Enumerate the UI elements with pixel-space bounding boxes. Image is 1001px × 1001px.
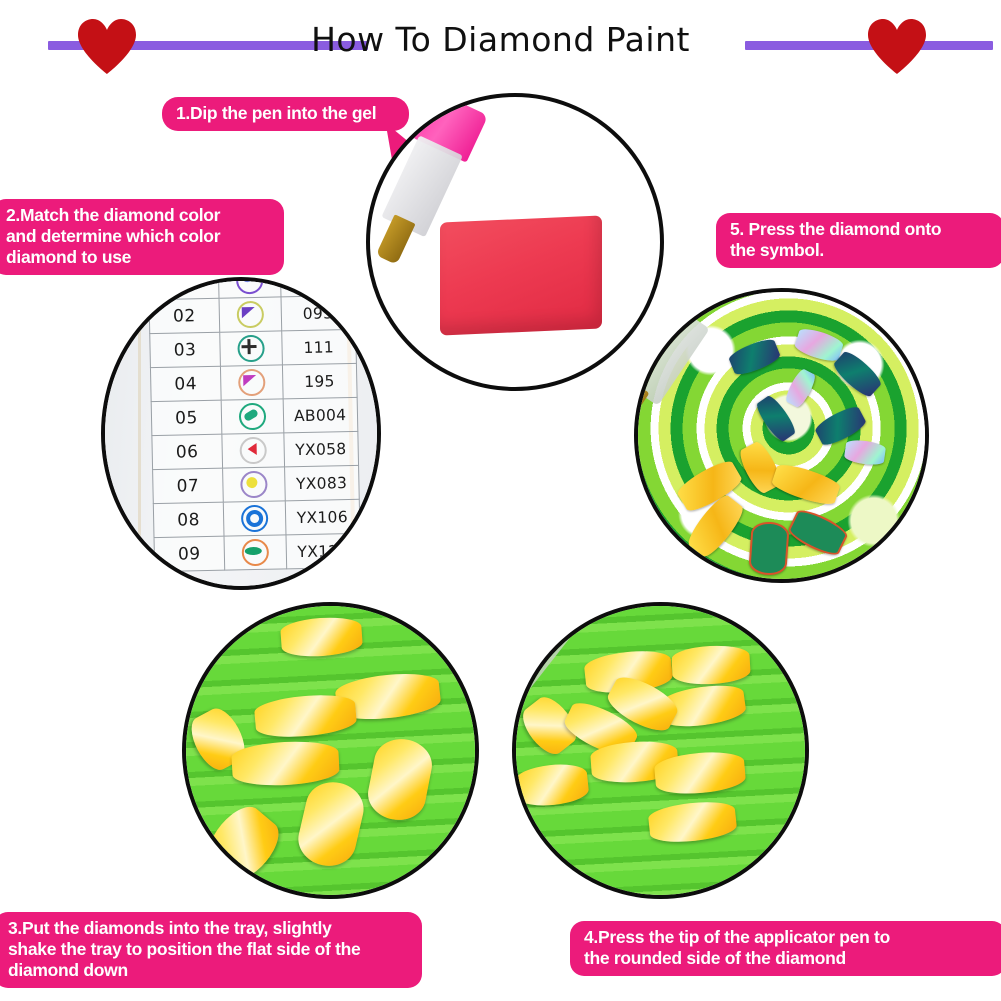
chart-row-number: 03: [150, 332, 221, 367]
chart-row-code: 093: [281, 295, 356, 331]
dot-icon-glyph: [246, 477, 257, 488]
plus-icon-glyph: [242, 345, 257, 348]
chart-row: 02093: [149, 295, 355, 333]
circle-double-dot-icon: [236, 277, 264, 294]
symbol-chart-table: 02002093031110419505AB00406YX05807YX0830…: [148, 277, 361, 572]
chart-row: 05AB004: [151, 397, 357, 435]
how-to-diamond-paint-infographic: How To Diamond Paint 1.Dip the pen into …: [0, 0, 1001, 1001]
arrow-left-icon-glyph: [248, 443, 257, 455]
step-3-label: 3.Put the diamonds into the tray, slight…: [0, 912, 422, 988]
chart-row: 03111: [150, 329, 356, 367]
chart-row: 09YX125: [154, 533, 360, 571]
plus-icon: [220, 331, 282, 366]
dot-icon: [240, 470, 268, 498]
chart-row: 08YX106: [154, 499, 360, 537]
placing-diamond-on-symbol-photo: [638, 292, 925, 579]
ring-icon-glyph: [246, 510, 263, 527]
triangle-icon: [238, 368, 266, 396]
pen-picking-up-diamond-photo: [516, 606, 805, 895]
step-3-line-1: 3.Put the diamonds into the tray, slight…: [8, 918, 408, 939]
pen-dipping-into-gel-photo: [370, 97, 660, 387]
triangle-icon-glyph: [242, 307, 255, 318]
arrow-left-icon: [222, 433, 284, 468]
step-4-photo: [512, 602, 809, 899]
step-5-line-1: 5. Press the diamond onto: [730, 219, 990, 240]
chart-row-code: YX058: [284, 431, 359, 467]
chart-row-code: 195: [282, 363, 357, 399]
step-2-label: 2.Match the diamond color and determine …: [0, 199, 284, 275]
step-5-line-2: the symbol.: [730, 240, 990, 261]
triangle-icon: [221, 365, 283, 400]
triangle-icon: [219, 297, 281, 332]
triangle-icon: [237, 300, 265, 328]
page-title: How To Diamond Paint: [0, 20, 1001, 59]
step-5-label: 5. Press the diamond onto the symbol.: [716, 213, 1001, 268]
chart-row: 04195: [151, 363, 357, 401]
ring-icon: [241, 504, 269, 532]
symbol-outline: [748, 520, 790, 575]
chart-row-code: YX125: [286, 533, 361, 569]
chart-row-number: 08: [154, 502, 225, 537]
chart-row-number: [149, 277, 220, 299]
capsule-icon-glyph: [243, 408, 259, 422]
chart-row-code: 020: [280, 277, 355, 297]
diamonds-in-tray-photo: [186, 606, 475, 895]
chart-row-number: 07: [153, 468, 224, 503]
chart-row: 07YX083: [153, 465, 359, 503]
chart-row-code: AB004: [283, 397, 358, 433]
triangle-icon-glyph: [243, 375, 256, 386]
chart-row-code: YX106: [285, 499, 360, 535]
chart-row-number: 06: [152, 434, 223, 469]
step-4-line-2: the rounded side of the diamond: [584, 948, 992, 969]
chart-row: 06YX058: [152, 431, 358, 469]
leaf-icon: [242, 538, 270, 566]
pen-tip: [376, 214, 416, 265]
step-3-photo: [182, 602, 479, 899]
symbol-color-chart-photo: 02002093031110419505AB00406YX05807YX0830…: [105, 281, 377, 586]
dot-icon: [223, 467, 285, 502]
chart-row-number: 04: [151, 366, 222, 401]
step-4-label: 4.Press the tip of the applicator pen to…: [570, 921, 1001, 976]
gel-pad: [440, 215, 602, 335]
capsule-icon: [221, 399, 283, 434]
chart-row-code: YX083: [284, 465, 359, 501]
step-1-photo: [366, 93, 664, 391]
step-1-line-1: 1.Dip the pen into the gel: [176, 103, 395, 124]
step-4-line-1: 4.Press the tip of the applicator pen to: [584, 927, 992, 948]
step-2-line-3: diamond to use: [6, 247, 270, 268]
step-3-line-3: diamond down: [8, 960, 408, 981]
arrow-left-icon: [239, 436, 267, 464]
capsule-icon: [239, 402, 267, 430]
paper-edge-stripe: [138, 281, 141, 586]
chart-row-number: 09: [154, 536, 225, 571]
chart-row-number: 02: [149, 298, 220, 333]
step-2-line-2: and determine which color: [6, 226, 270, 247]
step-2-photo: 02002093031110419505AB00406YX05807YX0830…: [101, 277, 381, 590]
circle-double-dot-icon-glyph: [242, 277, 253, 282]
leaf-icon-glyph: [245, 547, 262, 555]
step-2-line-1: 2.Match the diamond color: [6, 205, 270, 226]
ring-icon: [223, 501, 285, 536]
step-5-photo: [634, 288, 929, 583]
leaf-icon: [224, 535, 286, 570]
chart-row-code: 111: [282, 329, 357, 365]
plus-icon: [237, 334, 265, 362]
chart-row-number: 05: [151, 400, 222, 435]
circle-double-dot-icon: [218, 277, 280, 298]
step-3-line-2: shake the tray to position the flat side…: [8, 939, 408, 960]
